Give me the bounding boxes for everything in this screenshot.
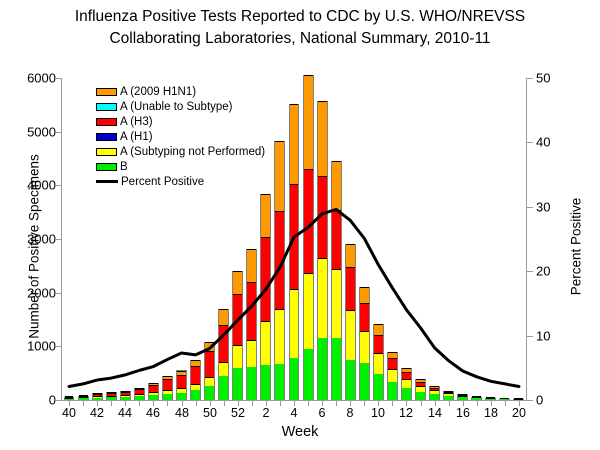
bar-segment xyxy=(219,376,228,400)
legend-item-a_h3: A (H3) xyxy=(96,114,265,129)
bar-column xyxy=(232,271,243,400)
bar-segment xyxy=(261,365,270,400)
bar-segment xyxy=(346,267,355,310)
legend-color-swatch xyxy=(96,88,117,96)
bar-segment xyxy=(93,398,102,400)
bar-segment xyxy=(261,194,270,237)
bar-segment xyxy=(304,75,313,169)
bar-column xyxy=(218,309,229,400)
bar-column xyxy=(401,368,412,400)
bar-segment xyxy=(318,176,327,258)
bar-segment xyxy=(163,376,172,379)
bar-column xyxy=(92,393,103,400)
bar-segment xyxy=(346,244,355,268)
bar-segment xyxy=(290,184,299,289)
bar-segment xyxy=(402,388,411,400)
bar-segment xyxy=(360,303,369,331)
bar-segment xyxy=(219,362,228,376)
y-axis-left-tick-mark xyxy=(56,400,62,401)
bar-column xyxy=(120,391,131,400)
legend-item-label: A (H1) xyxy=(120,131,153,143)
bar-segment xyxy=(191,366,200,384)
bar-segment xyxy=(219,325,228,363)
bar-segment xyxy=(135,388,144,389)
bar-segment xyxy=(458,396,467,397)
bar-segment xyxy=(261,237,270,320)
bar-segment xyxy=(318,258,327,338)
x-axis-tick-label: 20 xyxy=(499,406,539,420)
legend-item-label: B xyxy=(120,161,128,173)
chart-title: Influenza Positive Tests Reported to CDC… xyxy=(0,6,600,50)
bar-segment xyxy=(149,392,158,395)
bar-segment xyxy=(332,210,341,268)
bar-segment xyxy=(388,369,397,382)
bar-segment xyxy=(444,396,453,400)
bar-segment xyxy=(472,398,481,400)
bar-segment xyxy=(107,396,116,398)
bar-segment xyxy=(388,358,397,369)
bar-segment xyxy=(93,393,102,394)
bar-segment xyxy=(205,377,214,386)
bar-segment xyxy=(233,271,242,294)
bar-column xyxy=(106,392,117,400)
y-axis-right-label: Percent Positive xyxy=(569,97,584,397)
bar-column xyxy=(513,399,524,401)
bar-column xyxy=(289,104,300,400)
legend-item-b: B xyxy=(96,159,265,174)
bar-segment xyxy=(444,393,453,395)
bar-column xyxy=(359,287,370,400)
bar-segment xyxy=(304,349,313,400)
bar-segment xyxy=(107,392,116,393)
y-axis-right-tick-mark xyxy=(527,142,533,143)
bar-segment xyxy=(416,379,425,381)
bar-column xyxy=(499,399,510,401)
bar-segment xyxy=(458,394,467,395)
y-axis-right-line xyxy=(526,78,527,401)
bar-segment xyxy=(416,392,425,400)
bar-segment xyxy=(93,394,102,396)
legend-color-swatch xyxy=(96,118,117,126)
bar-segment xyxy=(402,372,411,379)
bar-segment xyxy=(290,358,299,400)
legend-item-label: A (2009 H1N1) xyxy=(120,86,196,98)
bar-segment xyxy=(388,352,397,358)
bar-segment xyxy=(402,379,411,388)
bar-column xyxy=(148,383,159,400)
legend-color-swatch xyxy=(96,148,117,156)
bar-segment xyxy=(191,384,200,390)
bar-segment xyxy=(205,386,214,400)
bar-column xyxy=(345,244,356,400)
bar-segment xyxy=(346,360,355,400)
bar-column xyxy=(485,398,496,400)
chart-title-line-2: Collaborating Laboratories, National Sum… xyxy=(0,28,600,50)
bar-segment xyxy=(290,289,299,358)
x-axis-label: Week xyxy=(0,424,600,440)
bar-segment xyxy=(79,395,88,396)
y-axis-right-tick-mark xyxy=(527,271,533,272)
bar-segment xyxy=(332,161,341,210)
bar-column xyxy=(471,397,482,400)
bar-segment xyxy=(219,309,228,325)
y-axis-left-tick-label: 6000 xyxy=(10,71,56,86)
bar-segment xyxy=(121,391,130,392)
bar-segment xyxy=(430,386,439,387)
legend-item-a_unable_subtype: A (Unable to Subtype) xyxy=(96,99,265,114)
bar-segment xyxy=(107,397,116,400)
bar-column xyxy=(274,141,285,400)
y-axis-right-tick-label: 50 xyxy=(536,71,576,86)
bar-column xyxy=(387,352,398,400)
bar-column xyxy=(78,396,89,400)
bar-segment xyxy=(149,383,158,385)
legend-color-swatch xyxy=(96,163,117,171)
bar-segment xyxy=(416,386,425,392)
legend-item-label: A (H3) xyxy=(120,116,153,128)
bar-segment xyxy=(107,393,116,396)
bar-column xyxy=(204,342,215,400)
bar-segment xyxy=(121,395,130,397)
bar-column xyxy=(331,161,342,400)
bar-segment xyxy=(402,368,411,372)
bar-segment xyxy=(149,385,158,392)
bar-segment xyxy=(163,394,172,400)
bar-segment xyxy=(304,169,313,273)
bar-segment xyxy=(177,393,186,400)
bar-segment xyxy=(430,390,439,394)
bar-segment xyxy=(444,392,453,394)
legend-item-label: A (Subtyping not Performed) xyxy=(120,146,265,158)
bar-column xyxy=(373,324,384,400)
bar-segment xyxy=(360,287,369,304)
bar-segment xyxy=(332,269,341,339)
bar-column xyxy=(429,386,440,400)
bar-segment xyxy=(121,397,130,400)
bar-segment xyxy=(486,399,495,400)
bar-segment xyxy=(177,388,186,393)
bar-segment xyxy=(444,391,453,392)
bar-segment xyxy=(304,273,313,349)
bar-segment xyxy=(458,395,467,396)
bar-segment xyxy=(430,394,439,400)
bar-segment xyxy=(416,382,425,386)
bar-column xyxy=(190,360,201,400)
bar-segment xyxy=(374,353,383,374)
y-axis-left-label: Number of Positive Specimens xyxy=(27,97,42,397)
bar-segment xyxy=(346,310,355,360)
legend-item-a_h1: A (H1) xyxy=(96,129,265,144)
bar-segment xyxy=(275,141,284,211)
bar-segment xyxy=(275,309,284,363)
legend-color-swatch xyxy=(96,103,117,111)
y-axis-right-tick-mark xyxy=(527,336,533,337)
bar-segment xyxy=(374,374,383,400)
bar-segment xyxy=(65,396,74,397)
legend-item-label: Percent Positive xyxy=(121,176,204,188)
bar-segment xyxy=(233,345,242,368)
bar-column xyxy=(415,379,426,400)
bar-segment xyxy=(247,340,256,367)
bar-segment xyxy=(275,211,284,309)
bar-segment xyxy=(261,321,270,366)
bar-column xyxy=(162,376,173,400)
bar-segment xyxy=(177,371,186,375)
bar-segment xyxy=(163,390,172,394)
bar-segment xyxy=(79,396,88,397)
y-axis-right-tick-mark xyxy=(527,207,533,208)
bar-segment xyxy=(65,399,74,400)
bar-segment xyxy=(191,360,200,366)
legend-line-marker xyxy=(96,180,118,183)
bar-segment xyxy=(233,294,242,346)
bar-segment xyxy=(500,398,509,399)
bar-segment xyxy=(318,338,327,400)
bar-column xyxy=(246,249,257,400)
chart-legend: A (2009 H1N1)A (Unable to Subtype)A (H3)… xyxy=(96,84,265,189)
bar-segment xyxy=(388,382,397,400)
bar-column xyxy=(64,397,75,400)
bar-segment xyxy=(486,397,495,398)
y-axis-right-tick-mark xyxy=(527,400,533,401)
bar-column xyxy=(303,75,314,400)
legend-item-label: A (Unable to Subtype) xyxy=(120,101,233,113)
bar-segment xyxy=(247,367,256,400)
influenza-chart: Influenza Positive Tests Reported to CDC… xyxy=(0,0,600,450)
bar-segment xyxy=(360,331,369,363)
bar-segment xyxy=(149,395,158,400)
bar-segment xyxy=(458,397,467,400)
bar-segment xyxy=(374,324,383,335)
legend-item-percent_positive: Percent Positive xyxy=(96,174,265,189)
bar-segment xyxy=(205,342,214,352)
bar-segment xyxy=(360,363,369,400)
bar-column xyxy=(317,101,328,400)
bar-segment xyxy=(135,396,144,400)
bar-segment xyxy=(374,335,383,353)
bar-segment xyxy=(472,396,481,397)
bar-segment xyxy=(332,338,341,400)
bar-segment xyxy=(430,388,439,391)
bar-column xyxy=(260,194,271,400)
bar-segment xyxy=(93,396,102,397)
chart-title-line-1: Influenza Positive Tests Reported to CDC… xyxy=(0,6,600,28)
bar-column xyxy=(134,388,145,400)
bar-column xyxy=(457,394,468,400)
bar-segment xyxy=(275,364,284,400)
bar-segment xyxy=(79,398,88,400)
legend-color-swatch xyxy=(96,133,117,141)
legend-item-a_h1n1_2009: A (2009 H1N1) xyxy=(96,84,265,99)
bar-segment xyxy=(135,394,144,396)
bar-segment xyxy=(65,397,74,398)
bar-segment xyxy=(318,101,327,176)
bar-segment xyxy=(247,249,256,282)
bar-segment xyxy=(191,390,200,400)
bar-segment xyxy=(121,392,130,395)
bar-segment xyxy=(163,379,172,390)
bar-segment xyxy=(290,104,299,185)
y-axis-right-tick-mark xyxy=(527,78,533,79)
bar-segment xyxy=(247,282,256,339)
bar-segment xyxy=(177,375,186,388)
bar-segment xyxy=(135,389,144,394)
bar-segment xyxy=(205,351,214,377)
bar-column xyxy=(176,370,187,400)
bar-segment xyxy=(233,368,242,400)
bar-column xyxy=(443,391,454,400)
bar-segment xyxy=(514,398,523,399)
legend-item-a_subtyping_not_performed: A (Subtyping not Performed) xyxy=(96,144,265,159)
